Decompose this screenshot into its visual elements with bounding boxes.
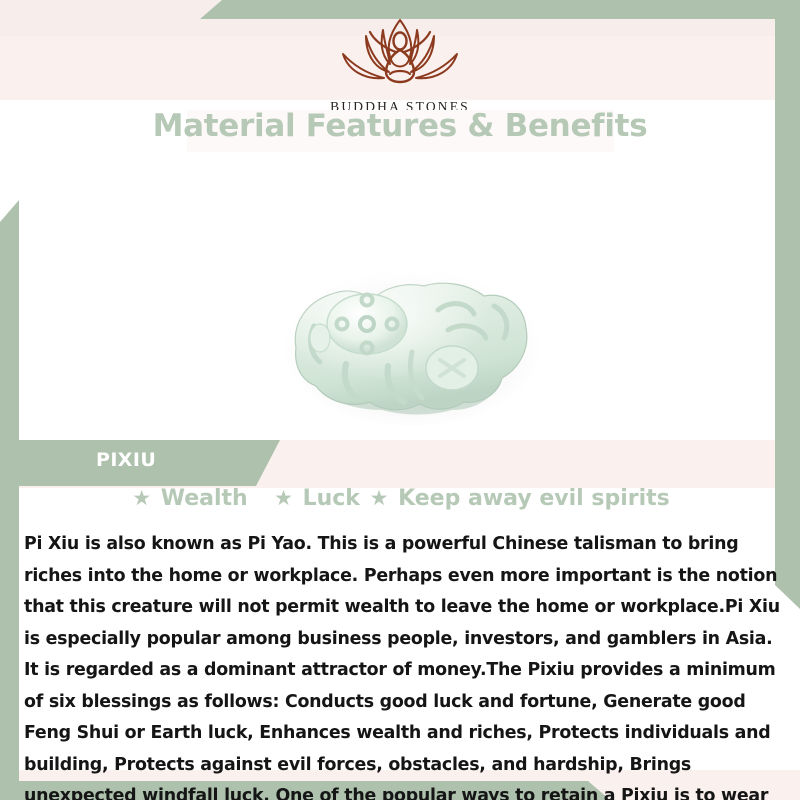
star-icon-2: ★ (274, 486, 293, 510)
description-paragraph: Pi Xiu is also known as Pi Yao. This is … (24, 529, 782, 800)
jade-pixiu-carving-photo (262, 252, 562, 437)
star-icon-3: ★ (370, 486, 389, 510)
pixiu-label: PIXIU (96, 449, 156, 471)
brand-logo: BUDDHA STONES (0, 14, 800, 115)
page-title: Material Features & Benefits (0, 108, 800, 144)
infographic-page: BUDDHA STONES Material Features & Benefi… (0, 0, 800, 800)
benefit-luck: Luck (303, 486, 360, 511)
star-icon-1: ★ (132, 486, 151, 510)
benefit-evil-spirits: Keep away evil spirits (398, 486, 670, 511)
benefit-wealth: Wealth (161, 486, 248, 511)
lotus-meditation-icon (0, 14, 800, 97)
benefits-line: ★ Wealth ★ Luck ★ Keep away evil spirits (0, 486, 800, 511)
